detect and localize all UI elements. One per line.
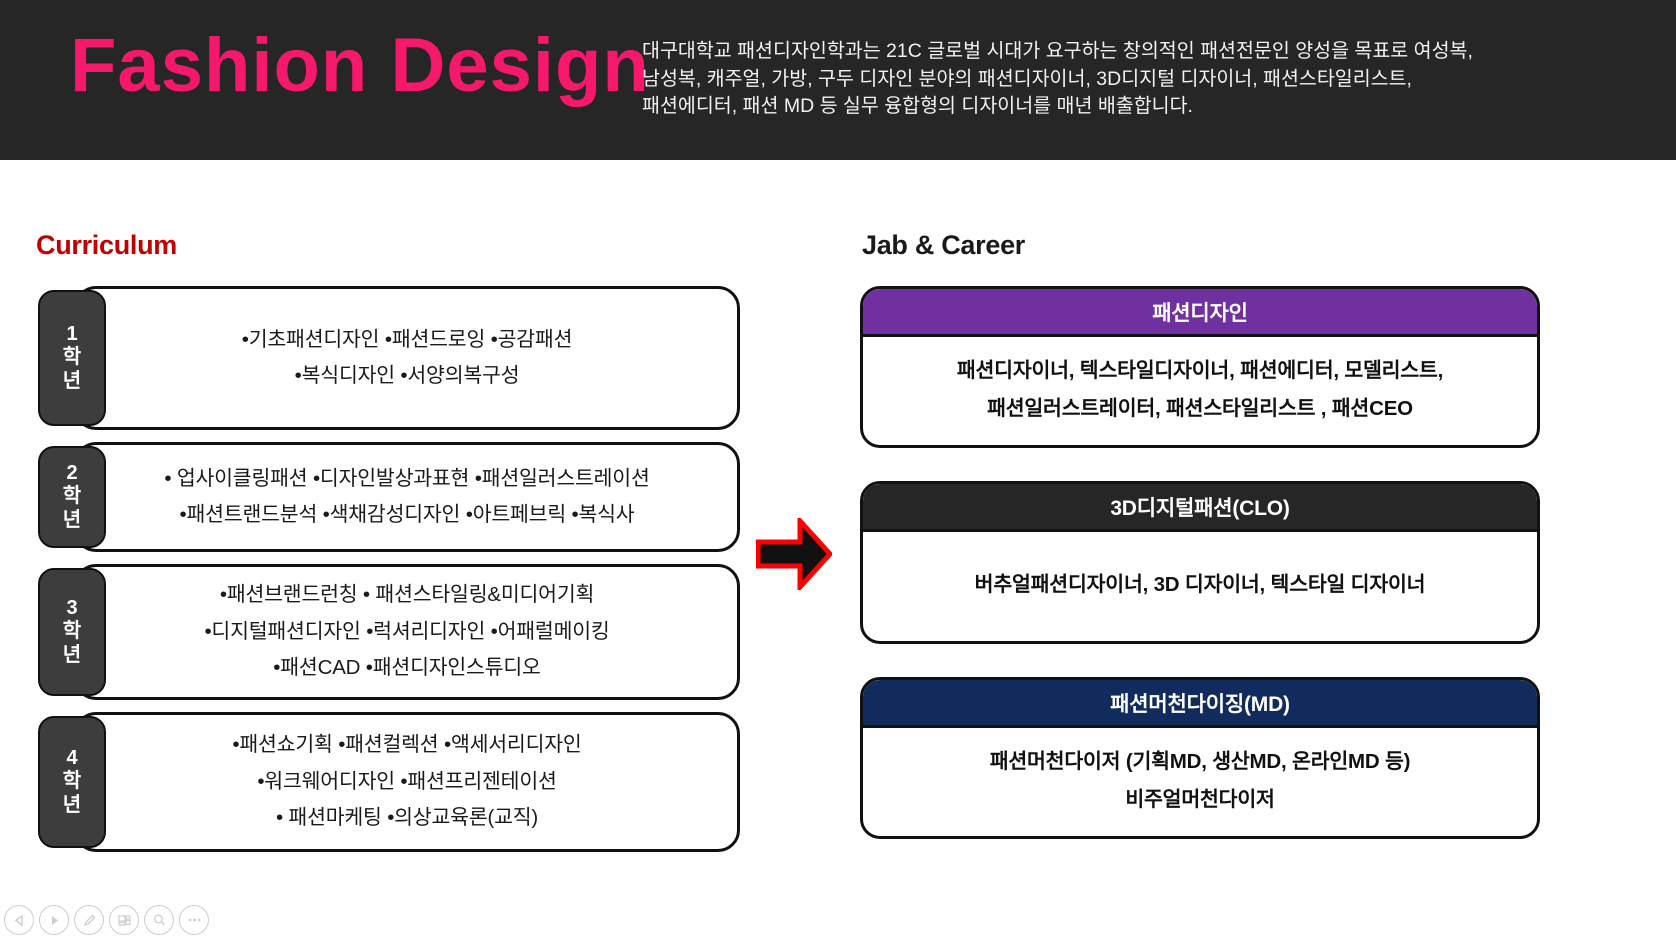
curriculum-card-year4: •패션쇼기획 •패션컬렉션 •액세서리디자인 •워크웨어디자인 •패션프리젠테이… (74, 712, 740, 852)
curriculum-year-row: •패션쇼기획 •패션컬렉션 •액세서리디자인 •워크웨어디자인 •패션프리젠테이… (38, 712, 740, 852)
description-line-1: 대구대학교 패션디자인학과는 21C 글로벌 시대가 요구하는 창의적인 패션전… (642, 38, 1652, 66)
description-line-2: 남성복, 캐주얼, 가방, 구두 디자인 분야의 패션디자이너, 3D디지털 디… (642, 66, 1652, 94)
slide-canvas: Fashion Design 대구대학교 패션디자인학과는 21C 글로벌 시대… (0, 0, 1676, 941)
right-arrow-icon (756, 518, 832, 590)
course-line: •패션CAD •패션디자인스튜디오 (273, 650, 540, 686)
year-tab-char: 4 (66, 747, 77, 771)
year-tab-4: 4 학 년 (38, 716, 106, 848)
course-line: •디지털패션디자인 •럭셔리디자인 •어패럴메이킹 (204, 614, 609, 650)
career-heading: Jab & Career (862, 230, 1025, 261)
previous-slide-icon[interactable] (4, 905, 34, 935)
course-line: •패션트랜드분석 •색채감성디자인 •아트페브릭 •복식사 (180, 497, 635, 533)
career-card-body: 패션디자이너, 텍스타일디자이너, 패션에디터, 모델리스트, 패션일러스트레이… (863, 337, 1537, 442)
zoom-icon[interactable] (144, 905, 174, 935)
year-tab-char: 3 (66, 597, 77, 621)
year-tab-char: 학 (63, 770, 81, 794)
year-tab-char: 년 (63, 509, 81, 533)
pen-icon[interactable] (74, 905, 104, 935)
career-line: 패션머천다이저 (기획MD, 생산MD, 온라인MD 등) (990, 743, 1411, 780)
career-card-body: 패션머천다이저 (기획MD, 생산MD, 온라인MD 등) 비주얼머천다이저 (863, 728, 1537, 833)
year-tab-char: 2 (66, 462, 77, 486)
career-line: 비주얼머천다이저 (1125, 781, 1274, 818)
career-list: 패션디자인 패션디자이너, 텍스타일디자이너, 패션에디터, 모델리스트, 패션… (860, 286, 1540, 872)
page-title: Fashion Design (70, 28, 650, 104)
year-tab-1: 1 학 년 (38, 290, 106, 426)
course-line: •워크웨어디자인 •패션프리젠테이션 (257, 764, 556, 800)
course-line: • 업사이클링패션 •디자인발상과표현 •패션일러스트레이션 (164, 461, 649, 497)
career-card-header: 패션디자인 (863, 289, 1537, 337)
curriculum-year-row: •기초패션디자인 •패션드로잉 •공감패션 •복식디자인 •서양의복구성 1 학… (38, 286, 740, 430)
career-card-header: 패션머천다이징(MD) (863, 680, 1537, 728)
career-card-3d-digital-fashion: 3D디지털패션(CLO) 버추얼패션디자이너, 3D 디자이너, 텍스타일 디자… (860, 481, 1540, 644)
year-tab-3: 3 학 년 (38, 568, 106, 696)
course-line: •패션쇼기획 •패션컬렉션 •액세서리디자인 (232, 727, 581, 763)
curriculum-card-year1: •기초패션디자인 •패션드로잉 •공감패션 •복식디자인 •서양의복구성 (74, 286, 740, 430)
curriculum-year-row: •패션브랜드런칭 • 패션스타일링&미디어기획 •디지털패션디자인 •럭셔리디자… (38, 564, 740, 700)
course-line: • 패션마케팅 •의상교육론(교직) (276, 800, 538, 836)
career-card-fashion-merchandising: 패션머천다이징(MD) 패션머천다이저 (기획MD, 생산MD, 온라인MD 등… (860, 677, 1540, 839)
curriculum-list: •기초패션디자인 •패션드로잉 •공감패션 •복식디자인 •서양의복구성 1 학… (38, 286, 740, 864)
slide-header: Fashion Design 대구대학교 패션디자인학과는 21C 글로벌 시대… (0, 0, 1676, 160)
curriculum-heading: Curriculum (36, 230, 177, 261)
curriculum-card-year3: •패션브랜드런칭 • 패션스타일링&미디어기획 •디지털패션디자인 •럭셔리디자… (74, 564, 740, 700)
department-description: 대구대학교 패션디자인학과는 21C 글로벌 시대가 요구하는 창의적인 패션전… (642, 38, 1652, 121)
career-card-header: 3D디지털패션(CLO) (863, 484, 1537, 532)
year-tab-char: 학 (63, 346, 81, 370)
more-options-icon[interactable] (179, 905, 209, 935)
career-line: 패션디자이너, 텍스타일디자이너, 패션에디터, 모델리스트, (957, 352, 1443, 389)
course-line: •기초패션디자인 •패션드로잉 •공감패션 (242, 322, 572, 358)
year-tab-char: 1 (66, 323, 77, 347)
all-slides-icon[interactable] (109, 905, 139, 935)
description-line-3: 패션에디터, 패션 MD 등 실무 융합형의 디자이너를 매년 배출합니다. (642, 93, 1652, 121)
career-line: 패션일러스트레이터, 패션스타일리스트 , 패션CEO (987, 390, 1413, 427)
year-tab-char: 학 (63, 620, 81, 644)
curriculum-year-row: • 업사이클링패션 •디자인발상과표현 •패션일러스트레이션 •패션트랜드분석 … (38, 442, 740, 552)
year-tab-char: 년 (63, 794, 81, 818)
course-line: •패션브랜드런칭 • 패션스타일링&미디어기획 (220, 577, 594, 613)
year-tab-char: 년 (63, 370, 81, 394)
career-card-fashion-design: 패션디자인 패션디자이너, 텍스타일디자이너, 패션에디터, 모델리스트, 패션… (860, 286, 1540, 448)
year-tab-char: 학 (63, 485, 81, 509)
year-tab-2: 2 학 년 (38, 446, 106, 548)
curriculum-card-year2: • 업사이클링패션 •디자인발상과표현 •패션일러스트레이션 •패션트랜드분석 … (74, 442, 740, 552)
presenter-toolbar (4, 905, 209, 935)
course-line: •복식디자인 •서양의복구성 (295, 358, 520, 394)
year-tab-char: 년 (63, 644, 81, 668)
career-card-body: 버추얼패션디자이너, 3D 디자이너, 텍스타일 디자이너 (863, 532, 1537, 638)
career-line: 버추얼패션디자이너, 3D 디자이너, 텍스타일 디자이너 (975, 566, 1426, 603)
next-slide-icon[interactable] (39, 905, 69, 935)
